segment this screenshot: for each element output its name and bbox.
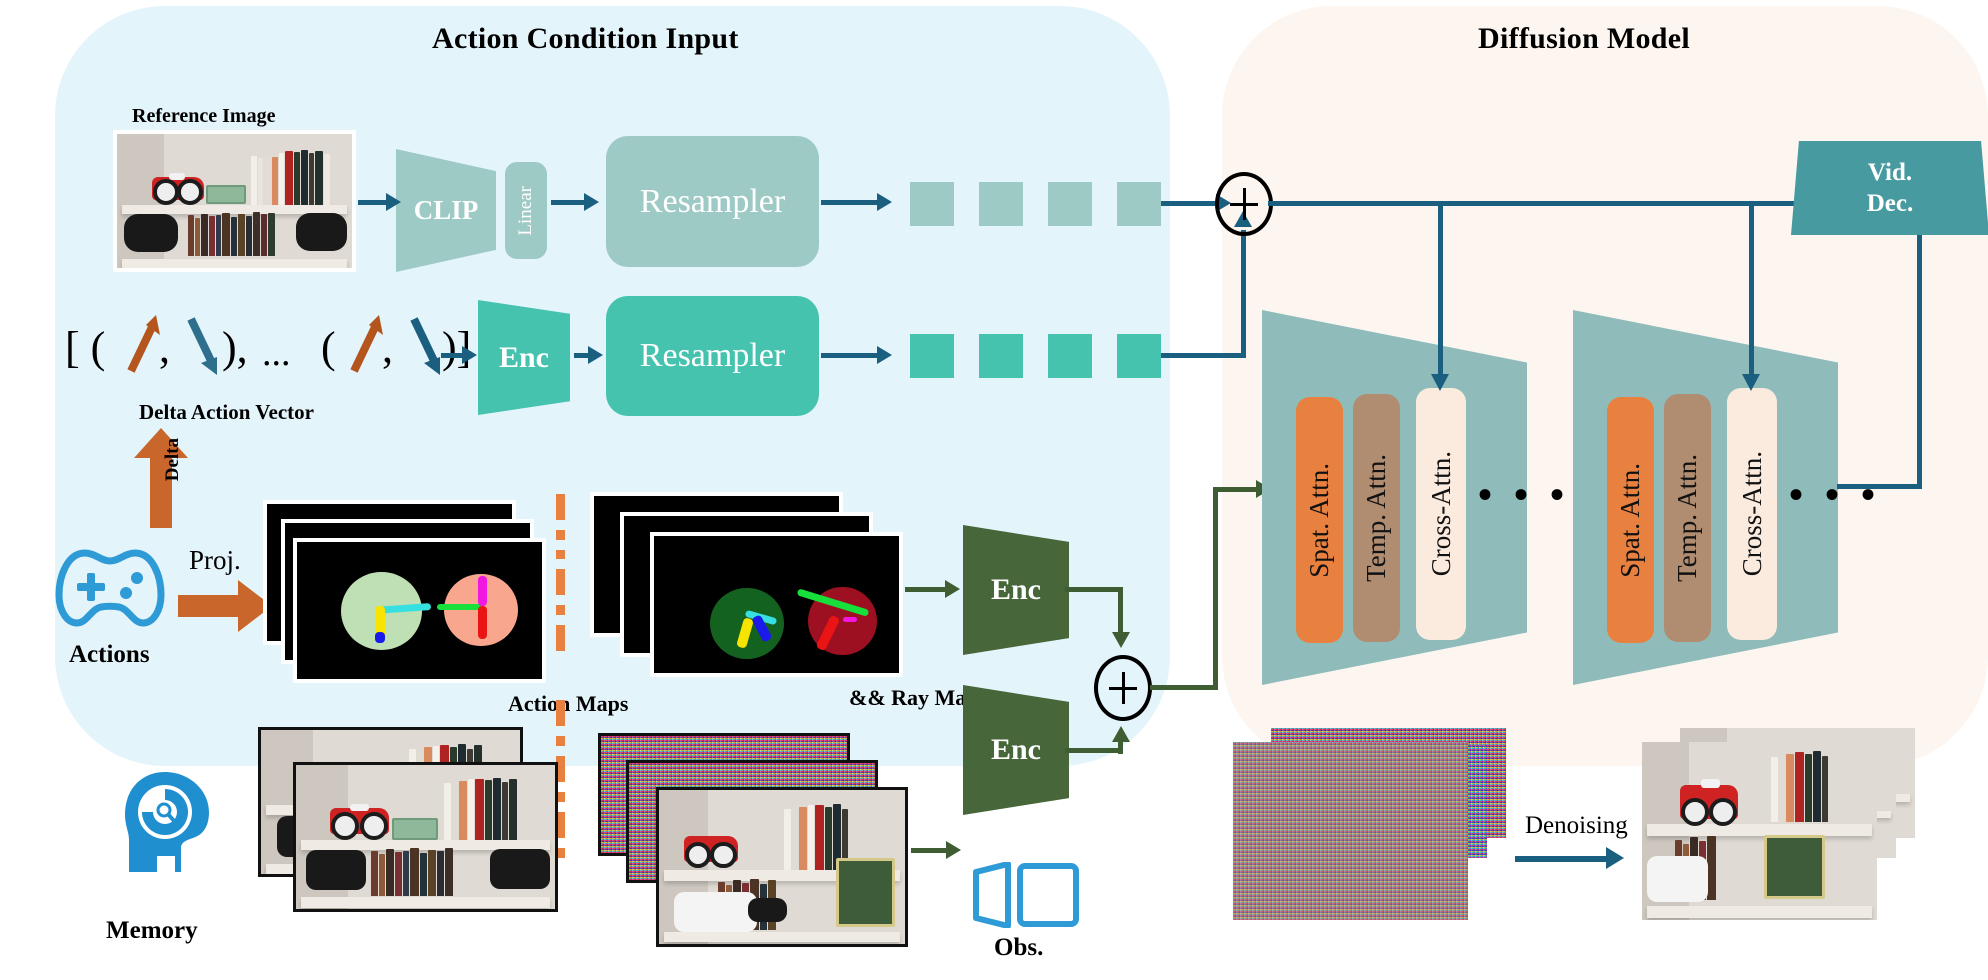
plus-node-condition <box>1215 172 1273 236</box>
formula-open: [ ( <box>65 322 105 373</box>
unet2-temporal-attn-label: Temp. Attn. <box>1672 454 1703 582</box>
arrow-obs-to-enc-head <box>946 841 961 859</box>
ray-map-stick-magenta <box>843 617 858 622</box>
unet1-cross-attn-pill[interactable]: Cross-Attn. <box>1416 388 1466 640</box>
unet2-temporal-attn-pill[interactable]: Temp. Attn. <box>1664 394 1711 642</box>
reference-image-label: Reference Image <box>132 105 275 128</box>
delta-arrow-up-orange-2-icon <box>345 311 385 375</box>
delta-label: Delta <box>162 438 184 487</box>
arrow-obs-to-enc <box>911 848 949 853</box>
unet1-temporal-attn-pill[interactable]: Temp. Attn. <box>1353 394 1400 642</box>
token-bottom-3 <box>1048 334 1092 378</box>
unet2-cross-attn-pill[interactable]: Cross-Attn. <box>1727 388 1777 640</box>
action-map-front <box>293 538 546 683</box>
arrow-formula-to-enc-head <box>462 346 477 364</box>
token-bottom-2 <box>979 334 1023 378</box>
plus-node-latent <box>1094 655 1152 721</box>
arrow-ref-to-clip <box>358 200 388 205</box>
denoise-input-front <box>1233 742 1468 920</box>
enc-actionmaps-block[interactable]: Enc <box>963 525 1069 655</box>
arrow-raymaps-to-enc <box>905 587 947 592</box>
delta-action-vector-label: Delta Action Vector <box>139 400 314 425</box>
unet2-out-up <box>1917 227 1922 489</box>
unet1-spatial-attn-pill[interactable]: Spat. Attn. <box>1296 397 1343 643</box>
unet2-cross-attn-label: Cross-Attn. <box>1737 451 1768 576</box>
line-bottom-tokens-up <box>1241 230 1246 358</box>
line-plus-to-unet-right <box>1150 685 1218 690</box>
proj-label: Proj. <box>189 545 241 576</box>
line-enc-actionmaps-down <box>1118 587 1123 635</box>
memory-head-icon <box>119 768 213 880</box>
reference-image-thumb <box>113 130 356 272</box>
delta-arrow-up-orange-1-icon <box>122 311 162 375</box>
action-map-stick-green <box>437 604 484 611</box>
arrow-resampler-to-tokens <box>821 200 879 205</box>
enc-action-label: Enc <box>499 341 549 375</box>
unet2-spatial-attn-label: Spat. Attn. <box>1615 463 1646 578</box>
line-enc-obs-right <box>1065 748 1122 753</box>
arrow-raymaps-to-enc-head <box>945 580 960 598</box>
cond-drop-unet1 <box>1438 201 1443 376</box>
line-enc-actionmaps-right <box>1065 587 1122 592</box>
denoising-arrow <box>1515 856 1610 862</box>
arrow-enc-to-resampler-head <box>588 346 603 364</box>
enc-obs-label: Enc <box>991 733 1041 767</box>
token-top-4 <box>1117 182 1161 226</box>
vid-dec-block[interactable]: Vid. Dec. <box>1791 141 1988 235</box>
gamepad-icon <box>55 545 165 630</box>
arrow-right-orange-icon <box>178 578 274 634</box>
unet2-out-right <box>1837 484 1922 489</box>
action-map-stick-magenta <box>478 576 487 606</box>
denoising-label: Denoising <box>1525 812 1628 840</box>
panel-right-title: Diffusion Model <box>1478 22 1690 56</box>
vid-dec-label-line1: Vid. <box>1868 157 1912 188</box>
obs-label: Obs. <box>994 934 1043 962</box>
memory-label: Memory <box>106 917 198 945</box>
ray-map-front <box>650 532 903 677</box>
resampler-bottom-block[interactable]: Resampler <box>606 296 819 416</box>
delta-arrow-down-blue-1-icon <box>183 309 225 377</box>
line-bottom-tokens-right <box>1161 353 1246 358</box>
line-tokens-to-plus-top <box>1161 201 1219 206</box>
unet1-cross-attn-label: Cross-Attn. <box>1426 451 1457 576</box>
unet2-spatial-attn-pill[interactable]: Spat. Attn. <box>1607 397 1654 643</box>
token-bottom-1 <box>910 334 954 378</box>
token-top-1 <box>910 182 954 226</box>
action-map-stick-red <box>478 606 487 639</box>
formula-ellipsis: ... <box>262 331 291 375</box>
unet1-temporal-attn-label: Temp. Attn. <box>1361 454 1392 582</box>
enc-action-block[interactable]: Enc <box>478 300 570 415</box>
vid-dec-label-line2: Dec. <box>1867 188 1914 219</box>
unet2-ellipsis: • • • <box>1789 475 1881 515</box>
line-plus-to-unet-up <box>1213 490 1218 690</box>
linear-label: Linear <box>515 186 537 236</box>
action-maps-label: Action Maps <box>508 691 628 717</box>
panel-left-title: Action Condition Input <box>432 22 739 56</box>
formula-close-first: ), <box>222 322 248 373</box>
camera-icon <box>970 862 1080 928</box>
cond-drop-unet1-head <box>1431 374 1449 391</box>
denoising-arrow-head <box>1606 847 1624 869</box>
unet1-ellipsis: • • • <box>1478 475 1570 515</box>
delta-label-text: Delta <box>162 438 184 481</box>
arrow-resampler-to-tokens-head <box>877 193 892 211</box>
cond-drop-unet2 <box>1749 201 1754 376</box>
actions-label: Actions <box>69 641 150 669</box>
resampler-bottom-label: Resampler <box>640 337 785 375</box>
token-top-2 <box>979 182 1023 226</box>
arrow-linear-to-resampler <box>551 200 586 205</box>
denoise-output-front <box>1642 742 1877 920</box>
arrow-resampler-bottom-to-tokens-head <box>877 346 892 364</box>
token-bottom-4 <box>1117 334 1161 378</box>
enc-obs-block[interactable]: Enc <box>963 685 1069 815</box>
arrow-into-plus-top-head <box>1112 632 1130 648</box>
divider-dashed-upper <box>556 494 565 661</box>
arrow-resampler-bottom-to-tokens <box>821 353 879 358</box>
obs-frame-front <box>656 787 908 947</box>
enc-actionmaps-label: Enc <box>991 573 1041 607</box>
unet1-spatial-attn-label: Spat. Attn. <box>1304 463 1335 578</box>
memory-frame-front <box>293 762 558 912</box>
arrow-into-plus-bottom-head <box>1112 726 1130 742</box>
clip-label: CLIP <box>414 195 479 226</box>
token-top-3 <box>1048 182 1092 226</box>
arrow-ref-to-clip-head <box>386 193 401 211</box>
line-plus-to-unet-in <box>1213 487 1261 492</box>
arrow-linear-to-resampler-head <box>584 193 599 211</box>
formula-comma-1: , <box>159 322 170 373</box>
resampler-top-label: Resampler <box>640 183 785 221</box>
resampler-top-block[interactable]: Resampler <box>606 136 819 267</box>
diagram-canvas: Action Condition Input Diffusion Model R… <box>0 0 1988 980</box>
formula-comma-2: , <box>382 322 393 373</box>
linear-block[interactable]: Linear <box>505 162 547 259</box>
formula-open-2: ( <box>321 322 336 373</box>
action-map-stick-blue <box>375 632 385 643</box>
cond-drop-unet2-head <box>1742 374 1760 391</box>
